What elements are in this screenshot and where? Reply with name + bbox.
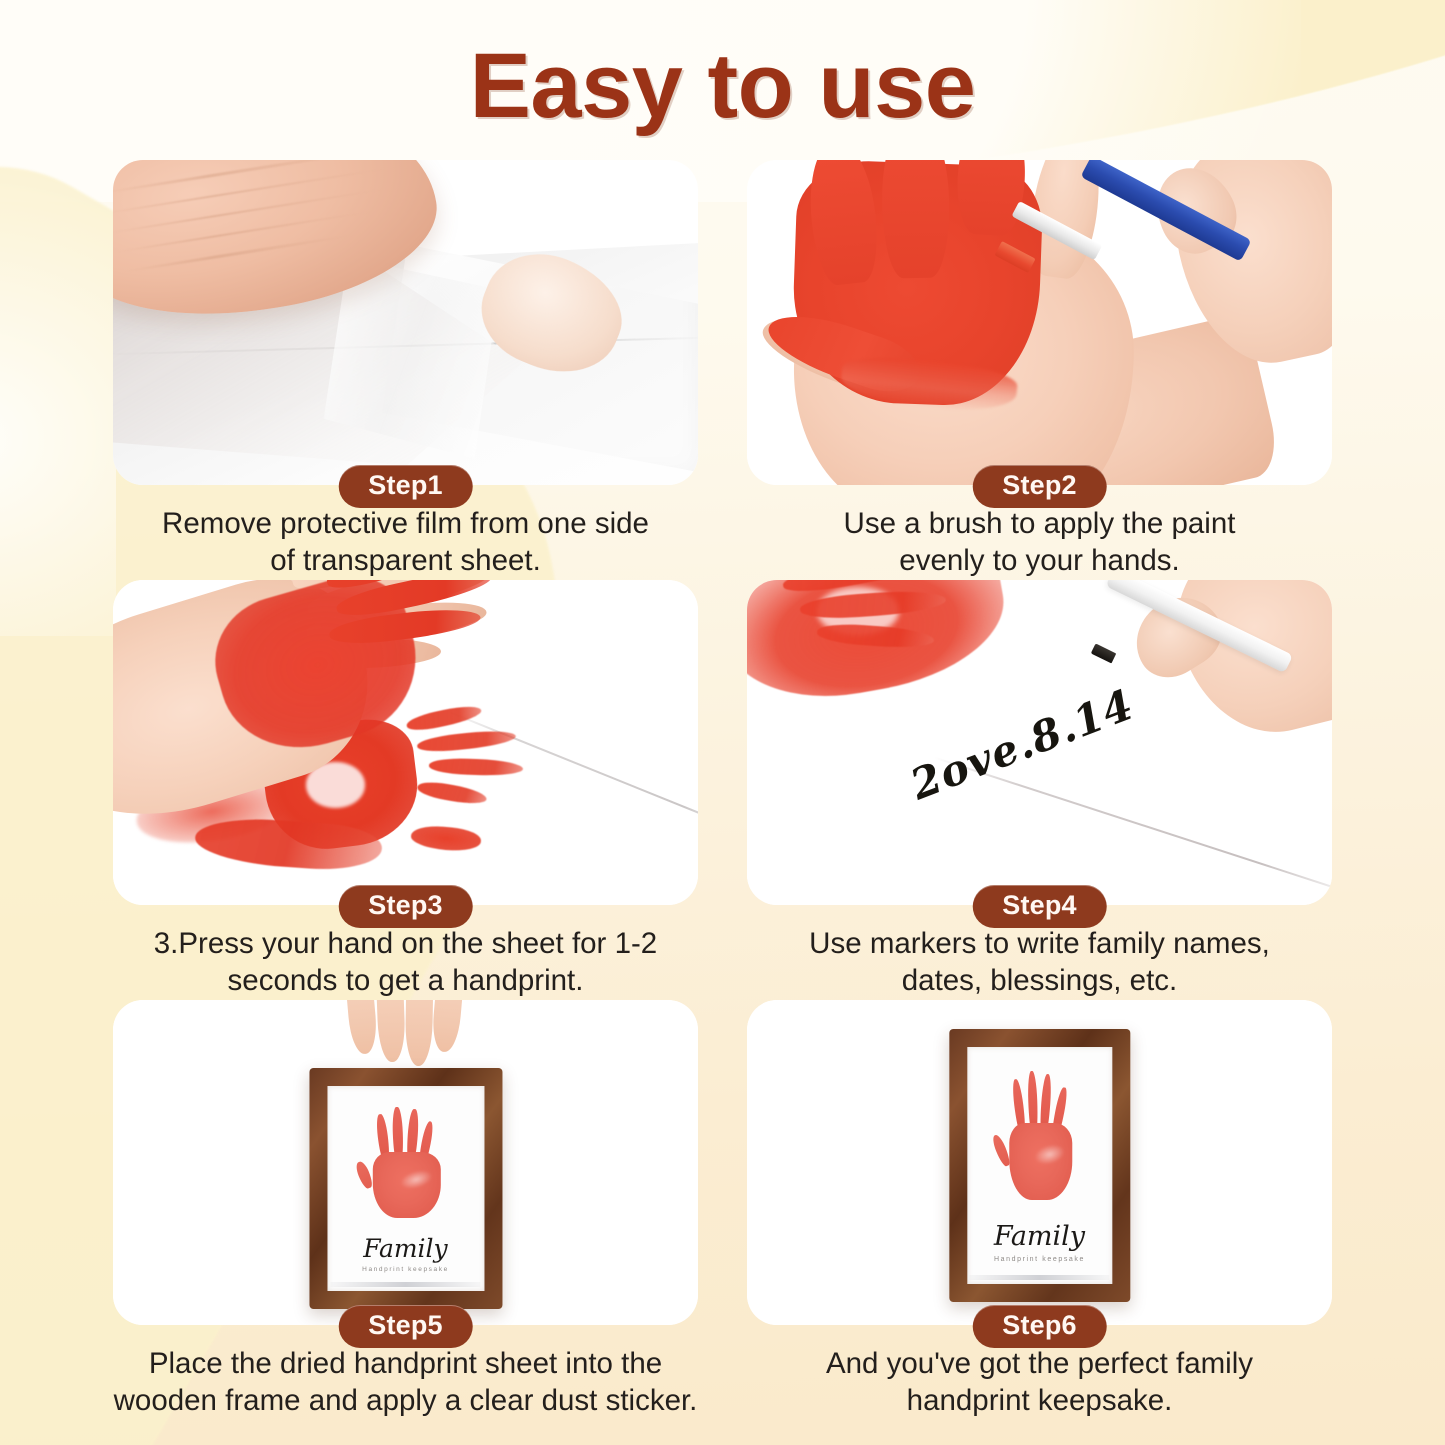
caption-line: handprint keepsake.	[733, 1383, 1346, 1420]
frame-family-word: Family	[994, 1223, 1085, 1250]
caption-line: Remove protective film from one side	[99, 506, 712, 543]
finger	[376, 1000, 406, 1062]
step-caption-3: 3.Press your hand on the sheet for 1-2 s…	[99, 926, 712, 999]
step-badge-6: Step6	[972, 1305, 1107, 1348]
step-card-4: 2ove.8.14 Step4 Use markers to write fam…	[747, 580, 1332, 1000]
caption-line: of transparent sheet.	[99, 543, 712, 580]
wooden-frame: Family Handprint keepsake	[309, 1068, 502, 1309]
caption-line: 3.Press your hand on the sheet for 1-2	[99, 926, 712, 963]
handprint-artwork: Family Handprint keepsake	[357, 1107, 454, 1226]
frame-glass-edge	[330, 1282, 481, 1287]
step-badge-4: Step4	[972, 885, 1107, 928]
knuckle-crease	[113, 188, 383, 235]
caption-line: Use a brush to apply the paint	[733, 506, 1346, 543]
hand-placing-sheet	[344, 1000, 467, 1065]
page-title: Easy to use	[0, 34, 1445, 140]
finger	[431, 1000, 464, 1053]
knuckle-crease	[124, 234, 354, 273]
frame-family-word: Family	[363, 1236, 447, 1261]
frame-glass-edge	[970, 1275, 1110, 1280]
step-caption-5: Place the dried handprint sheet into the…	[99, 1346, 712, 1419]
knuckle-crease	[113, 210, 371, 253]
step-caption-2: Use a brush to apply the paint evenly to…	[733, 506, 1346, 579]
write-with-marker-photo: 2ove.8.14	[747, 580, 1332, 905]
step-badge-5: Step5	[338, 1305, 473, 1348]
frame-subtext: Handprint keepsake	[994, 1256, 1085, 1263]
caption-line: evenly to your hands.	[733, 543, 1346, 580]
apply-paint-with-brush-photo	[747, 160, 1332, 485]
wooden-frame: Family Handprint keepsake	[949, 1029, 1130, 1302]
red-paint-on-finger	[880, 160, 950, 278]
step-caption-6: And you've got the perfect family handpr…	[733, 1346, 1346, 1419]
insert-sheet-into-frame-photo: Family Handprint keepsake	[113, 1000, 698, 1325]
caption-line: Use markers to write family names,	[733, 926, 1346, 963]
caption-line: And you've got the perfect family	[733, 1346, 1346, 1383]
finger	[405, 1000, 433, 1065]
step-card-6: Family Handprint keepsake Step6 And you'…	[747, 1000, 1332, 1420]
step-card-2: Step2 Use a brush to apply the paint eve…	[747, 160, 1332, 580]
step-badge-3: Step3	[338, 885, 473, 928]
finger	[346, 1000, 379, 1054]
caption-line: seconds to get a handprint.	[99, 963, 712, 1000]
step-card-5: Family Handprint keepsake Step5 Place th…	[113, 1000, 698, 1420]
step-card-3: Step3 3.Press your hand on the sheet for…	[113, 580, 698, 1000]
frame-subtext: Handprint keepsake	[362, 1266, 449, 1273]
caption-line: wooden frame and apply a clear dust stic…	[99, 1383, 712, 1420]
caption-line: Place the dried handprint sheet into the	[99, 1346, 712, 1383]
steps-grid: Step1 Remove protective film from one si…	[113, 160, 1332, 1420]
handprint-thumb	[354, 1160, 375, 1190]
knuckle-crease	[113, 168, 383, 216]
step-caption-1: Remove protective film from one side of …	[99, 506, 712, 579]
frame-print-sheet: Family Handprint keepsake	[967, 1047, 1112, 1284]
caption-line: dates, blessings, etc.	[733, 963, 1346, 1000]
step-caption-4: Use markers to write family names, dates…	[733, 926, 1346, 999]
peel-protective-film-photo	[113, 160, 698, 485]
step-badge-1: Step1	[338, 465, 473, 508]
step-card-1: Step1 Remove protective film from one si…	[113, 160, 698, 580]
press-hand-on-sheet-photo	[113, 580, 698, 905]
frame-print-sheet: Family Handprint keepsake	[327, 1086, 484, 1291]
finished-framed-keepsake-photo: Family Handprint keepsake	[747, 1000, 1332, 1325]
handprint-artwork: Family Handprint keepsake	[994, 1071, 1084, 1208]
step-badge-2: Step2	[972, 465, 1107, 508]
